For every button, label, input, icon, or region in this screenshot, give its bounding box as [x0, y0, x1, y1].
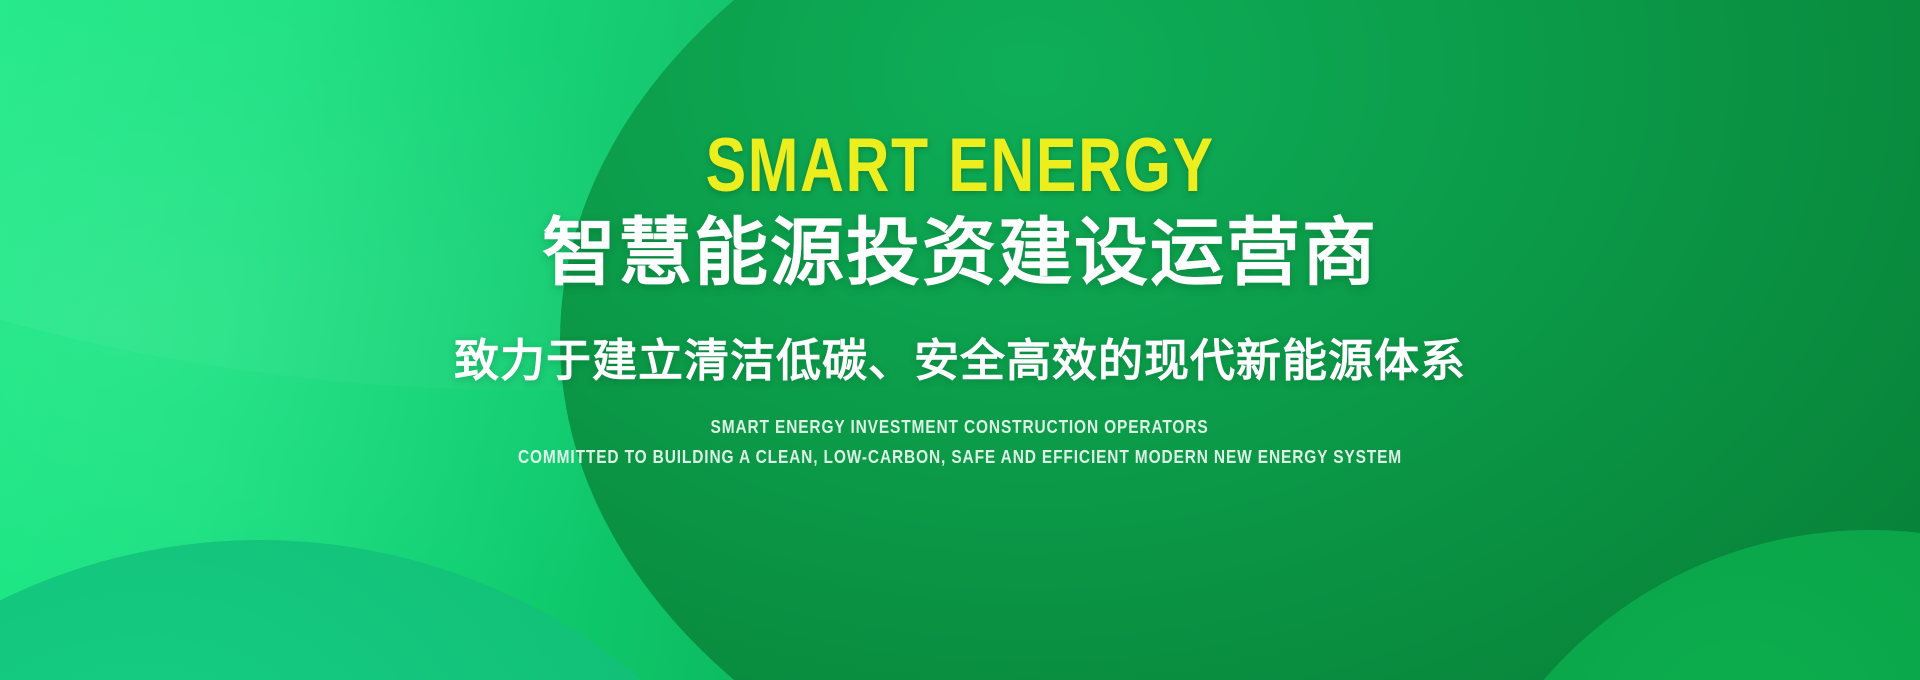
banner-tagline-line-2: COMMITTED TO BUILDING A CLEAN, LOW-CARBO… [518, 444, 1402, 472]
hero-banner: SMART ENERGY 智慧能源投资建设运营商 致力于建立清洁低碳、安全高效的… [0, 0, 1920, 680]
banner-title-chinese: 智慧能源投资建设运营商 [542, 214, 1378, 292]
banner-subtitle-chinese: 致力于建立清洁低碳、安全高效的现代新能源体系 [454, 336, 1466, 386]
banner-content: SMART ENERGY 智慧能源投资建设运营商 致力于建立清洁低碳、安全高效的… [0, 0, 1920, 680]
banner-title-english: SMART ENERGY [705, 128, 1214, 204]
banner-tagline-line-1: SMART ENERGY INVESTMENT CONSTRUCTION OPE… [711, 414, 1209, 442]
